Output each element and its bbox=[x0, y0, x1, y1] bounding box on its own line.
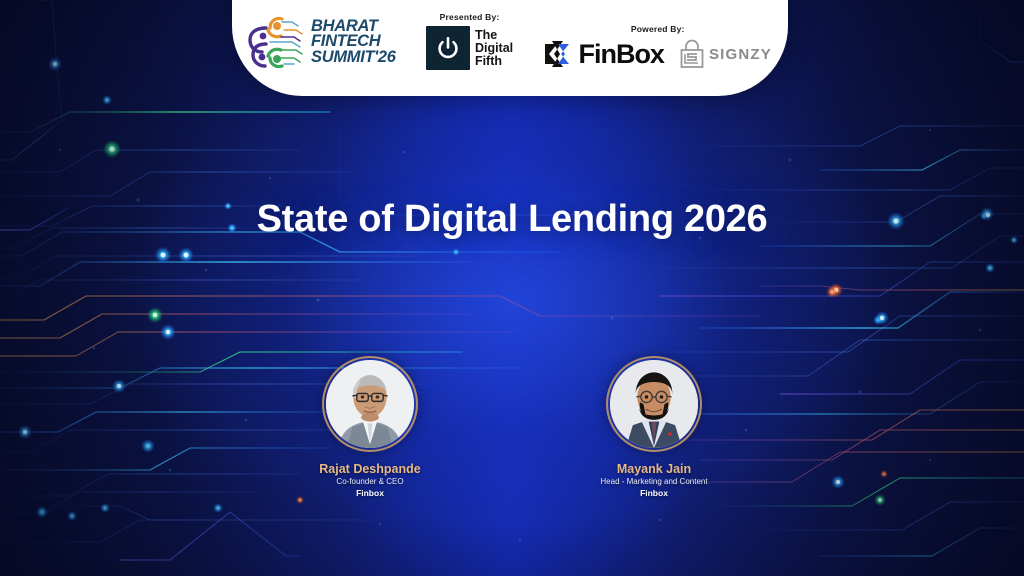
avatar bbox=[322, 356, 418, 452]
speaker-list: Rajat Deshpande Co-founder & CEO Finbox bbox=[0, 356, 1024, 498]
presented-by-label: Presented By: bbox=[440, 12, 500, 22]
presentation-slide: BHARAT FINTECH SUMMIT'26 Presented By: bbox=[0, 0, 1024, 576]
padlock-icon bbox=[678, 39, 706, 69]
tdf-word-digital: Digital bbox=[475, 42, 513, 55]
speaker-name: Rajat Deshpande bbox=[319, 462, 420, 476]
speaker-card: Mayank Jain Head - Marketing and Content… bbox=[554, 356, 754, 498]
tdf-word-the: The bbox=[475, 29, 513, 42]
signzy-logo: SIGNZY bbox=[678, 39, 772, 69]
sponsor-banner: BHARAT FINTECH SUMMIT'26 Presented By: bbox=[232, 0, 788, 96]
avatar bbox=[606, 356, 702, 452]
signzy-wordmark: SIGNZY bbox=[709, 46, 772, 63]
powered-by-label: Powered By: bbox=[631, 24, 685, 34]
speaker-role: Co-founder & CEO bbox=[336, 477, 403, 486]
speaker-org: Finbox bbox=[640, 488, 668, 498]
presented-by-group: Presented By: The Digital Fifth bbox=[426, 12, 513, 70]
speaker-card: Rajat Deshpande Co-founder & CEO Finbox bbox=[270, 356, 470, 498]
headshot-rajat-deshpande bbox=[326, 360, 414, 448]
finbox-chevron-icon bbox=[543, 38, 573, 70]
finbox-wordmark: FinBox bbox=[578, 39, 664, 70]
headshot-mayank-jain bbox=[610, 360, 698, 448]
tdf-word-fifth: Fifth bbox=[475, 55, 513, 68]
bharat-fintech-summit-logo: BHARAT FINTECH SUMMIT'26 bbox=[248, 14, 396, 70]
slide-title: State of Digital Lending 2026 bbox=[0, 198, 1024, 241]
speaker-name: Mayank Jain bbox=[617, 462, 691, 476]
finbox-logo: FinBox bbox=[543, 38, 664, 70]
the-digital-fifth-logo: The Digital Fifth bbox=[426, 26, 513, 70]
speaker-role: Head - Marketing and Content bbox=[600, 477, 707, 486]
summit-circuit-mark bbox=[248, 14, 308, 70]
speaker-org: Finbox bbox=[356, 488, 384, 498]
power-icon bbox=[426, 26, 470, 70]
powered-by-group: Powered By: FinBox bbox=[543, 24, 772, 70]
summit-logo-line3: SUMMIT'26 bbox=[311, 50, 396, 65]
